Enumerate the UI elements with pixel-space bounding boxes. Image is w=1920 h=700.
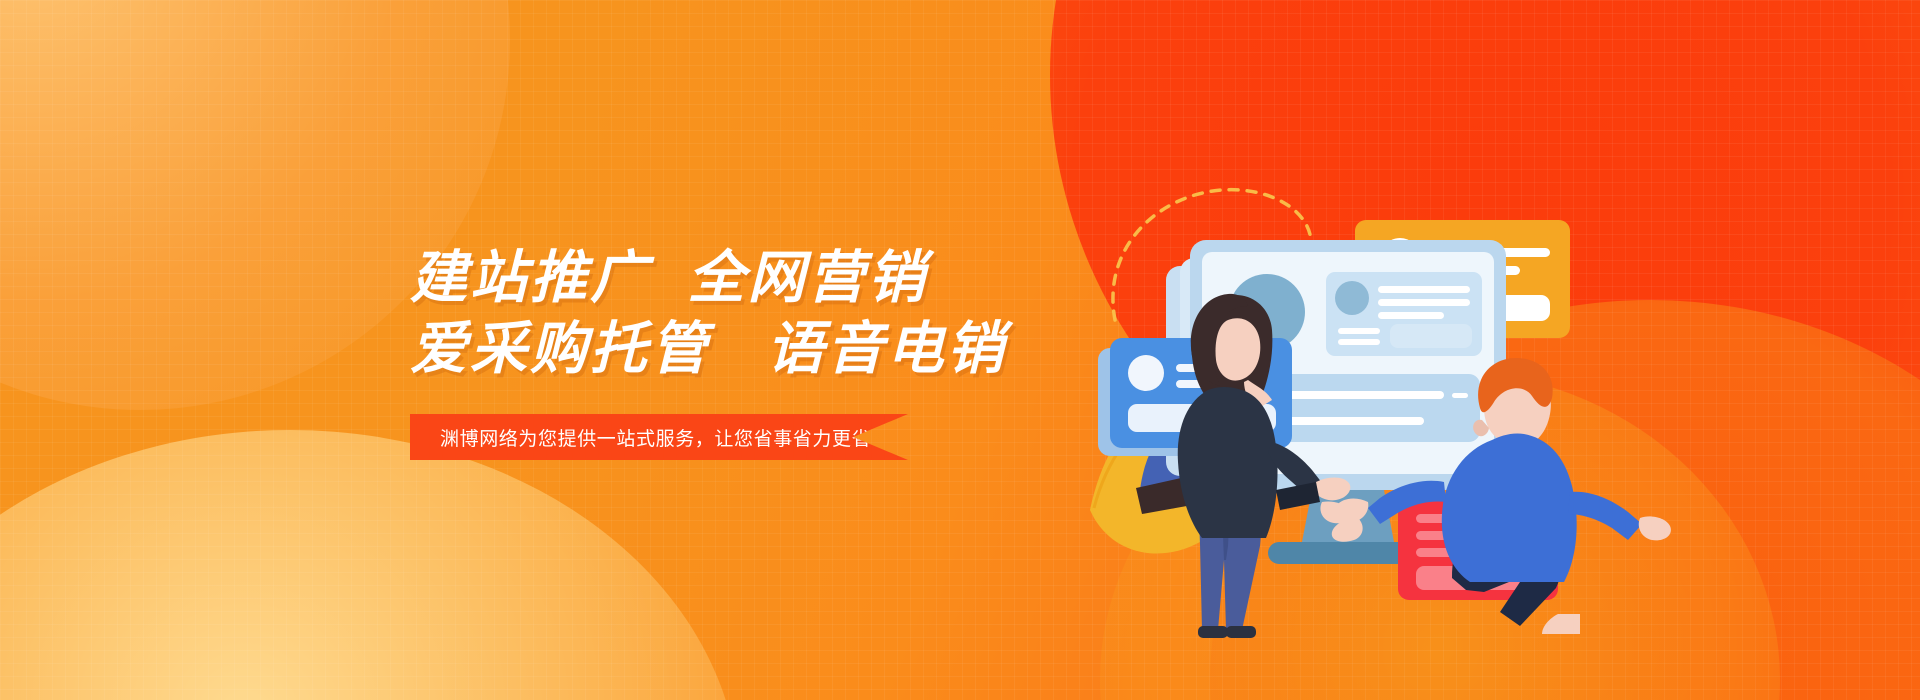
hero-illustration: [1080, 90, 1700, 650]
headline-block: 建站推广 全网营销 爱采购托管 语音电销: [410, 243, 1007, 385]
headline-line-1: 建站推广 全网营销: [410, 243, 1007, 314]
promo-banner: 建站推广 全网营销 爱采购托管 语音电销 渊博网络为您提供一站式服务，让您省事省…: [0, 0, 1920, 700]
headline-line-2: 爱采购托管 语音电销: [410, 314, 1007, 385]
subtitle-ribbon-text: 渊博网络为您提供一站式服务，让您省事省力更省心: [440, 424, 891, 451]
subtitle-ribbon: 渊博网络为您提供一站式服务，让您省事省力更省心: [410, 414, 908, 460]
blob-bottom-left-circle: [0, 430, 740, 700]
